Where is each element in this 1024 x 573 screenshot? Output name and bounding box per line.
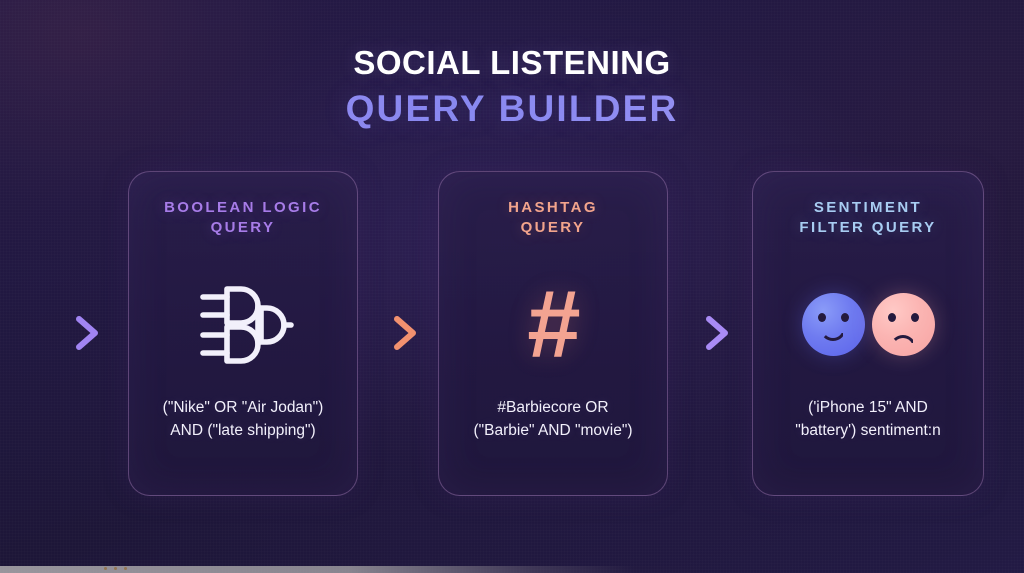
card-query-text-sentiment-filter: ('iPhone 15" AND "battery') sentiment:n — [795, 397, 940, 469]
hashtag-icon: # — [527, 265, 578, 385]
title-line-accent: QUERY BUILDER — [0, 87, 1024, 131]
arrow-right-icon-lead — [46, 305, 110, 361]
bottom-edge-strip — [0, 566, 1024, 573]
slide-canvas: SOCIAL LISTENING QUERY BUILDER BOOLEAN L… — [0, 0, 1024, 573]
page-title: SOCIAL LISTENING QUERY BUILDER — [0, 44, 1024, 131]
card-title-boolean-logic: BOOLEAN LOGIC QUERY — [164, 198, 322, 239]
happy-face-mouth — [820, 327, 846, 341]
card-query-text-boolean-logic: ("Nike" OR "Air Jodan") AND ("late shipp… — [163, 397, 324, 469]
happy-face-eye-right — [841, 313, 849, 322]
strip-dot — [124, 567, 127, 570]
strip-dot — [104, 567, 107, 570]
card-hashtag-query[interactable]: HASHTAG QUERY # #Barbiecore OR ("Barbie"… — [438, 171, 668, 496]
sad-face-eye-left — [888, 313, 896, 322]
logic-gate-icon — [191, 265, 295, 385]
sad-face-icon — [872, 293, 935, 356]
sentiment-faces-icon — [802, 265, 935, 385]
happy-face-icon — [802, 293, 865, 356]
hashtag-glyph: # — [527, 277, 578, 373]
sentiment-face-pair — [802, 293, 935, 356]
sad-face-mouth — [890, 335, 916, 349]
card-title-hashtag: HASHTAG QUERY — [508, 198, 598, 239]
strip-dot — [114, 567, 117, 570]
query-flow-row: BOOLEAN LOGIC QUERY — [0, 168, 1024, 498]
card-query-text-hashtag: #Barbiecore OR ("Barbie" AND "movie") — [474, 397, 633, 469]
card-boolean-logic-query[interactable]: BOOLEAN LOGIC QUERY — [128, 171, 358, 496]
arrow-right-icon-1 — [366, 305, 430, 361]
title-line-primary: SOCIAL LISTENING — [0, 44, 1024, 82]
sad-face-eye-right — [911, 313, 919, 322]
happy-face-eye-left — [818, 313, 826, 322]
card-sentiment-filter-query[interactable]: SENTIMENT FILTER QUERY ('iPhone 15" AN — [752, 171, 984, 496]
arrow-right-icon-2 — [678, 305, 742, 361]
card-title-sentiment-filter: SENTIMENT FILTER QUERY — [799, 198, 936, 239]
